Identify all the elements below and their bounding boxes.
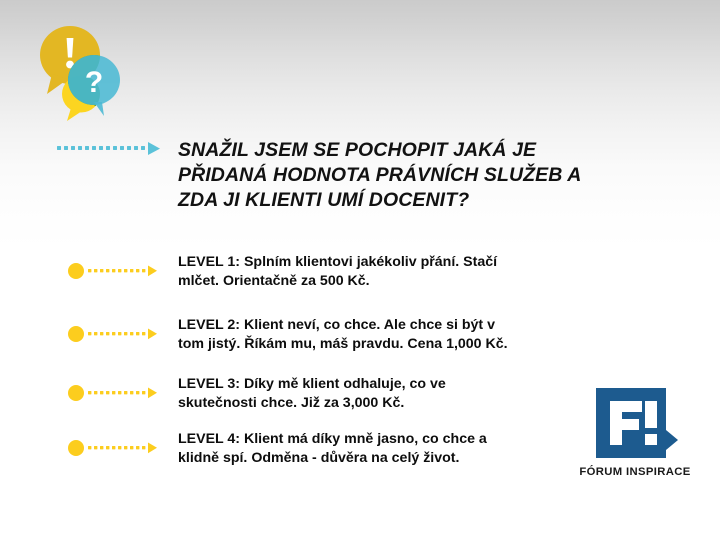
level-3-line-1: LEVEL 3: Díky mě klient odhaluje, co ve: [178, 375, 608, 394]
level-2-text: LEVEL 2: Klient neví, co chce. Ale chce …: [178, 316, 608, 353]
level-3-text: LEVEL 3: Díky mě klient odhaluje, co ve …: [178, 375, 608, 412]
svg-text:?: ?: [85, 66, 103, 99]
level2-arrow-connector: [68, 326, 164, 347]
title-line-1: SNAŽIL JSEM SE POCHOPIT JAKÁ JE: [178, 138, 618, 163]
speech-bubbles-icon: ?: [38, 22, 144, 124]
level-1-text: LEVEL 1: Splním klientovi jakékoliv přán…: [178, 253, 608, 290]
forum-inspirace-logo: FÓRUM INSPIRACE: [570, 388, 700, 488]
level-4-line-1: LEVEL 4: Klient má díky mně jasno, co ch…: [178, 430, 608, 449]
slide-canvas: ?: [0, 0, 720, 540]
slide-title: SNAŽIL JSEM SE POCHOPIT JAKÁ JE PŘIDANÁ …: [178, 138, 618, 213]
forum-inspirace-mark-icon: [596, 388, 680, 467]
title-arrow-connector: [57, 142, 167, 161]
level4-arrow-connector: [68, 440, 164, 461]
level-2-line-1: LEVEL 2: Klient neví, co chce. Ale chce …: [178, 316, 608, 335]
level3-arrow-connector: [68, 385, 164, 406]
logo-caption: FÓRUM INSPIRACE: [570, 466, 700, 478]
level-2-line-2: tom jistý. Říkám mu, máš pravdu. Cena 1,…: [178, 335, 608, 354]
title-line-2: PŘIDANÁ HODNOTA PRÁVNÍCH SLUŽEB A: [178, 163, 618, 188]
level-4-line-2: klidně spí. Odměna - důvěra na celý živo…: [178, 449, 608, 468]
level-3-line-2: skutečnosti chce. Již za 3,000 Kč.: [178, 394, 608, 413]
level-4-text: LEVEL 4: Klient má díky mně jasno, co ch…: [178, 430, 608, 467]
level1-arrow-connector: [68, 263, 164, 284]
level-1-line-2: mlčet. Orientačně za 500 Kč.: [178, 272, 608, 291]
level-1-line-1: LEVEL 1: Splním klientovi jakékoliv přán…: [178, 253, 608, 272]
title-line-3: ZDA JI KLIENTI UMÍ DOCENIT?: [178, 188, 618, 213]
